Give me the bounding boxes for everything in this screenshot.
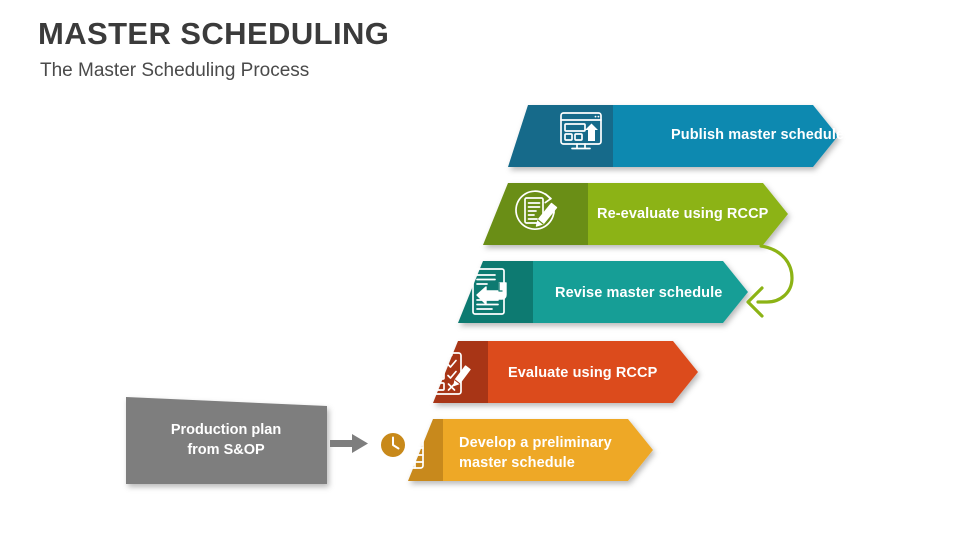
step-label-develop: Develop a preliminary master schedule [459,434,612,473]
step-icon-panel [408,419,443,481]
step-icon-panel [483,183,588,245]
input-box-label: Production plan from S&OP [126,420,326,461]
step-label-reevaluate: Re-evaluate using RCCP [597,205,768,225]
loop-back-arrow-icon [748,246,792,316]
arrow-right-icon [330,434,368,453]
slide-canvas: MASTER SCHEDULING The Master Scheduling … [0,0,960,540]
step-label-publish: Publish master schedule [671,126,844,146]
step-label-evaluate: Evaluate using RCCP [508,364,657,384]
step-label-develop-line2: master schedule [459,454,612,474]
step-label-revise: Revise master schedule [555,284,722,304]
clock-calendar-icon [380,428,423,468]
input-box-label-line1: Production plan [126,420,326,440]
step-label-develop-line1: Develop a preliminary [459,434,612,454]
input-box-label-line2: from S&OP [126,440,326,460]
